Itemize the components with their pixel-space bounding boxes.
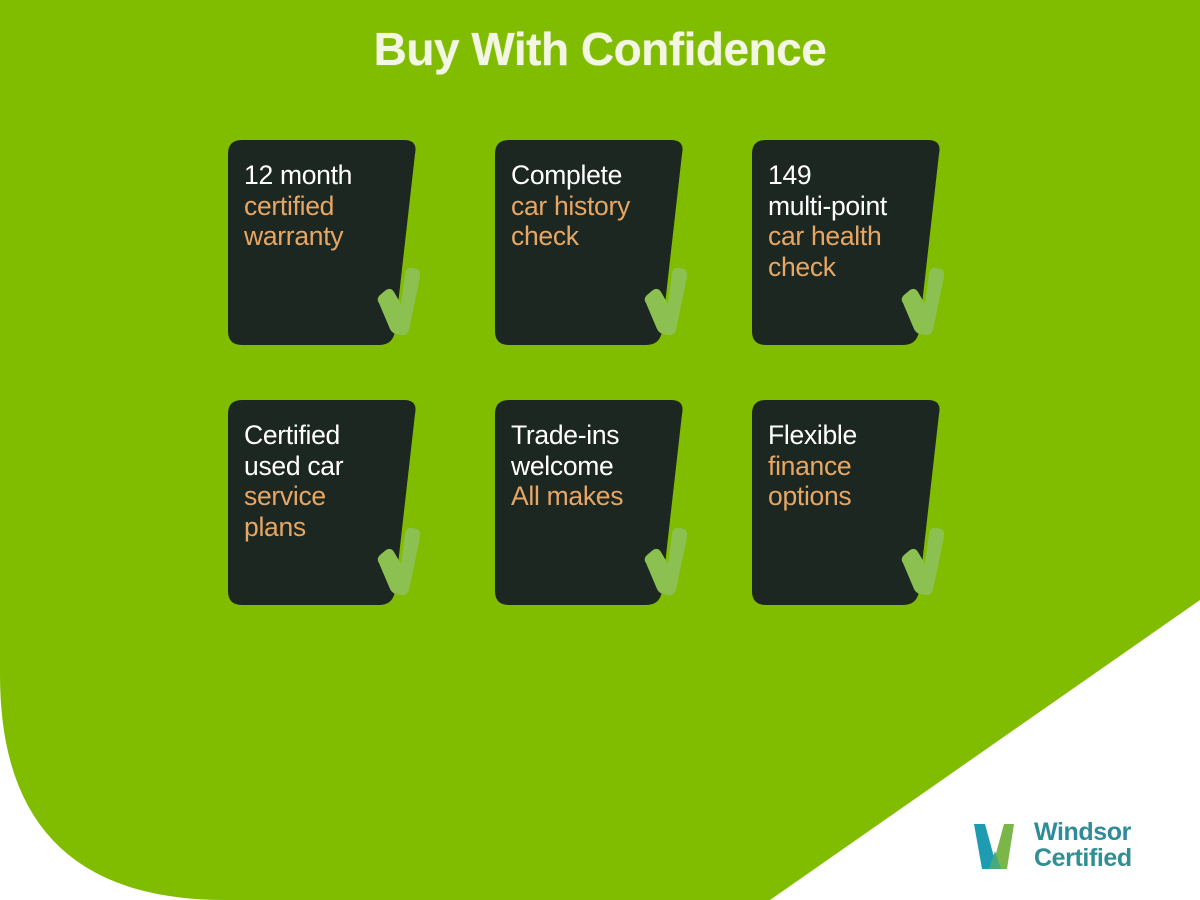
check-mark-icon bbox=[900, 526, 944, 596]
check-mark-icon bbox=[643, 266, 687, 336]
check-mark-icon bbox=[376, 266, 420, 336]
promo-graphic: Buy With Confidence 12 monthcertifiedwar… bbox=[0, 0, 1200, 900]
brand-logo[interactable]: Windsor Certified bbox=[968, 810, 1168, 880]
feature-card-149-multi-point-car-health-check[interactable]: 149multi-pointcar healthcheck bbox=[752, 140, 942, 345]
windsor-w-icon bbox=[968, 817, 1024, 873]
check-mark-icon bbox=[900, 266, 944, 336]
check-mark-icon bbox=[376, 526, 420, 596]
brand-line-windsor: Windsor bbox=[1034, 819, 1132, 845]
brand-line-certified: Certified bbox=[1034, 845, 1132, 871]
check-mark-icon bbox=[643, 526, 687, 596]
feature-card-trade-ins-welcome-all-makes[interactable]: Trade-inswelcomeAll makes bbox=[495, 400, 685, 605]
page-title: Buy With Confidence bbox=[0, 22, 1200, 76]
feature-card-twelve-month-certified-warranty[interactable]: 12 monthcertifiedwarranty bbox=[228, 140, 418, 345]
feature-card-certified-used-car-service-plans[interactable]: Certifiedused carserviceplans bbox=[228, 400, 418, 605]
feature-card-complete-car-history-check[interactable]: Completecar historycheck bbox=[495, 140, 685, 345]
brand-wordmark: Windsor Certified bbox=[1034, 819, 1132, 871]
feature-card-flexible-finance-options[interactable]: Flexiblefinanceoptions bbox=[752, 400, 942, 605]
